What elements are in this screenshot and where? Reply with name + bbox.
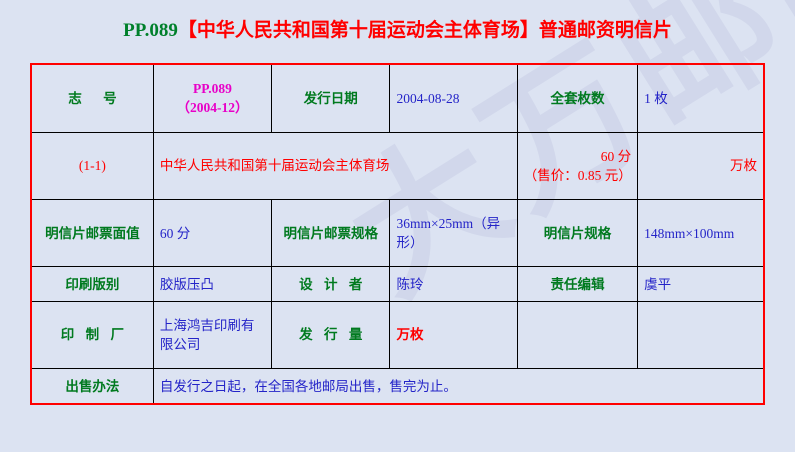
- table-row: 志 号 PP.089 （2004-12） 发行日期 2004-08-28 全套枚…: [31, 64, 764, 132]
- cell-designer-value: 陈玲: [390, 267, 517, 302]
- cell-retail-price: （售价：0.85 元）: [524, 166, 631, 185]
- cell-subject-name: 中华人民共和国第十届运动会主体育场: [153, 132, 517, 199]
- cell-stamp-face-value-value: 60 分: [153, 199, 271, 266]
- cell-serial-number: (1-1): [31, 132, 153, 199]
- cell-print-method-label: 印刷版别: [31, 267, 153, 302]
- cell-face-value-price: 60 分 （售价：0.85 元）: [517, 132, 637, 199]
- cell-printer-label: 印 制 厂: [31, 301, 153, 368]
- cell-zhihao-value-line1: PP.089: [160, 79, 265, 98]
- table-row: 明信片邮票面值 60 分 明信片邮票规格 36mm×25mm（异形） 明信片规格…: [31, 199, 764, 266]
- cell-stamp-size-value: 36mm×25mm（异形）: [390, 199, 517, 266]
- cell-printer-value: 上海鸿吉印刷有限公司: [153, 301, 271, 368]
- cell-print-quantity: 万枚: [638, 132, 764, 199]
- cell-zhihao-label: 志 号: [31, 64, 153, 132]
- cell-empty-1: [517, 301, 637, 368]
- table-row: 印 制 厂 上海鸿吉印刷有限公司 发 行 量 万枚: [31, 301, 764, 368]
- cell-sale-method-label: 出售办法: [31, 369, 153, 404]
- cell-issue-date-label: 发行日期: [272, 64, 390, 132]
- cell-sale-method-value: 自发行之日起，在全国各地邮局出售，售完为止。: [153, 369, 764, 404]
- cell-card-size-value: 148mm×100mm: [638, 199, 764, 266]
- cell-designer-label: 设 计 者: [272, 267, 390, 302]
- page-title-code: PP.089: [123, 20, 178, 41]
- cell-editor-label: 责任编辑: [517, 267, 637, 302]
- table-row: (1-1) 中华人民共和国第十届运动会主体育场 60 分 （售价：0.85 元）…: [31, 132, 764, 199]
- table-row: 印刷版别 胶版压凸 设 计 者 陈玲 责任编辑 虞平: [31, 267, 764, 302]
- cell-face-value: 60 分: [524, 147, 631, 166]
- cell-card-size-label: 明信片规格: [517, 199, 637, 266]
- cell-issue-qty-value: 万枚: [390, 301, 517, 368]
- table-row: 出售办法 自发行之日起，在全国各地邮局出售，售完为止。: [31, 369, 764, 404]
- page-title-name: 【中华人民共和国第十届运动会主体育场】普通邮资明信片: [178, 20, 672, 41]
- cell-print-method-value: 胶版压凸: [153, 267, 271, 302]
- cell-set-count-value: 1 枚: [638, 64, 764, 132]
- cell-zhihao-value-line2: （2004-12）: [160, 98, 265, 117]
- postcard-info-table: 志 号 PP.089 （2004-12） 发行日期 2004-08-28 全套枚…: [30, 63, 765, 405]
- cell-zhihao-value: PP.089 （2004-12）: [153, 64, 271, 132]
- cell-stamp-size-label: 明信片邮票规格: [272, 199, 390, 266]
- cell-empty-2: [638, 301, 764, 368]
- cell-set-count-label: 全套枚数: [517, 64, 637, 132]
- cell-issue-date-value: 2004-08-28: [390, 64, 517, 132]
- cell-editor-value: 虞平: [638, 267, 764, 302]
- cell-stamp-face-value-label: 明信片邮票面值: [31, 199, 153, 266]
- cell-issue-qty-label: 发 行 量: [272, 301, 390, 368]
- page-title: PP.089【中华人民共和国第十届运动会主体育场】普通邮资明信片: [0, 18, 795, 44]
